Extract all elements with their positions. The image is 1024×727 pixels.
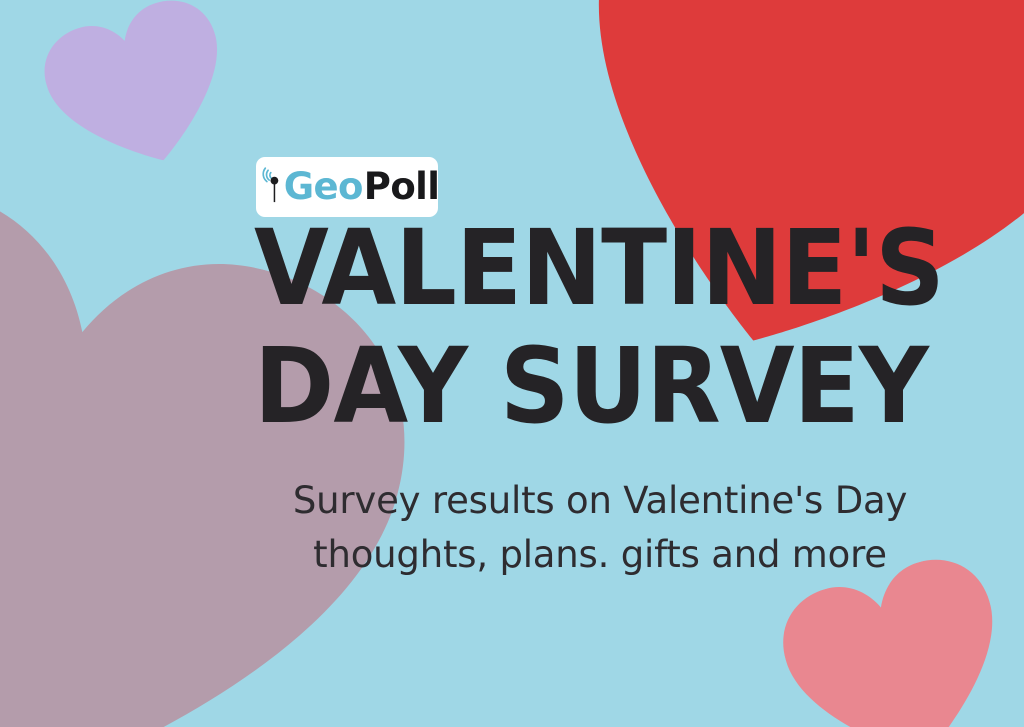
valentines-day-survey-poster: GeoPoll VALENTINE'S DAY SURVEY Survey re… xyxy=(0,0,1024,727)
headline-line-1: VALENTINE'S xyxy=(254,218,896,320)
subtitle-line-1: Survey results on Valentine's Day xyxy=(254,474,946,528)
heart-lavender-icon xyxy=(33,0,247,187)
page-title: VALENTINE'S DAY SURVEY xyxy=(254,218,944,438)
headline-line-2: DAY SURVEY xyxy=(254,336,896,438)
logo-text-poll: Poll xyxy=(364,168,440,205)
page-subtitle: Survey results on Valentine's Day though… xyxy=(254,474,946,582)
antenna-signal-icon xyxy=(255,166,285,206)
geopoll-logo: GeoPoll xyxy=(255,166,440,206)
logo-text-geo: Geo xyxy=(284,168,363,205)
subtitle-line-2: thoughts, plans. gifts and more xyxy=(254,528,946,582)
